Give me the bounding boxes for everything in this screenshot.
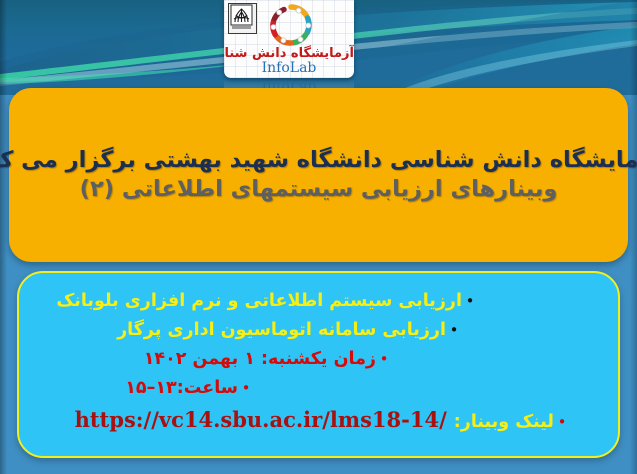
title-line-1: آزمایشگاه دانش شناسی دانشگاه شهید بهشتی … bbox=[0, 146, 637, 174]
logo-english-name: InfoLab bbox=[224, 60, 354, 76]
bullet-dot-icon: • bbox=[376, 352, 392, 367]
bullet-dot-icon: • bbox=[446, 323, 462, 338]
webinar-link-label: لینک وبینار: bbox=[454, 412, 554, 432]
webinar-topic-2: ارزیابی سامانه اتوماسیون اداری پرگار bbox=[117, 320, 446, 340]
webinar-time: ساعت:۱۳–۱۵ bbox=[125, 378, 238, 398]
infolab-color-ring-logo-icon bbox=[264, 2, 318, 48]
title-panel: آزمایشگاه دانش شناسی دانشگاه شهید بهشتی … bbox=[9, 88, 628, 262]
webinar-topic-1: ارزیابی سیستم اطلاعاتی و نرم افزاری بلوب… bbox=[56, 291, 462, 311]
bullet-dot-icon: • bbox=[462, 294, 478, 309]
webinar-poster: InfoLab bbox=[0, 0, 637, 474]
bullet-dot-icon: • bbox=[238, 381, 254, 396]
list-item: • زمان یکشنبه: ۱ بهمن ۱۴۰۲ bbox=[33, 349, 590, 376]
infolab-logo-card: آزمایشگاه دانش شناسی InfoLab bbox=[224, 0, 354, 78]
list-item: • ساعت:۱۳–۱۵ bbox=[33, 378, 590, 405]
webinar-date: زمان یکشنبه: ۱ بهمن ۱۴۰۲ bbox=[144, 349, 376, 369]
sbu-university-emblem-icon bbox=[228, 3, 257, 34]
list-item: • ارزیابی سامانه اتوماسیون اداری پرگار bbox=[33, 320, 590, 347]
details-panel: • ارزیابی سیستم اطلاعاتی و نرم افزاری بل… bbox=[17, 271, 620, 458]
webinar-link-url[interactable]: https://vc14.sbu.ac.ir/lms18-14/ bbox=[75, 407, 447, 432]
bullet-dot-icon: • bbox=[554, 415, 570, 430]
title-line-2: وبینارهای ارزیابی سیستمهای اطلاعاتی (۲) bbox=[80, 174, 558, 204]
list-item: • ارزیابی سیستم اطلاعاتی و نرم افزاری بل… bbox=[33, 291, 590, 318]
webinar-link-row[interactable]: • لینک وبینار: https://vc14.sbu.ac.ir/lm… bbox=[33, 407, 590, 437]
logo-persian-name: آزمایشگاه دانش شناسی bbox=[224, 46, 354, 61]
